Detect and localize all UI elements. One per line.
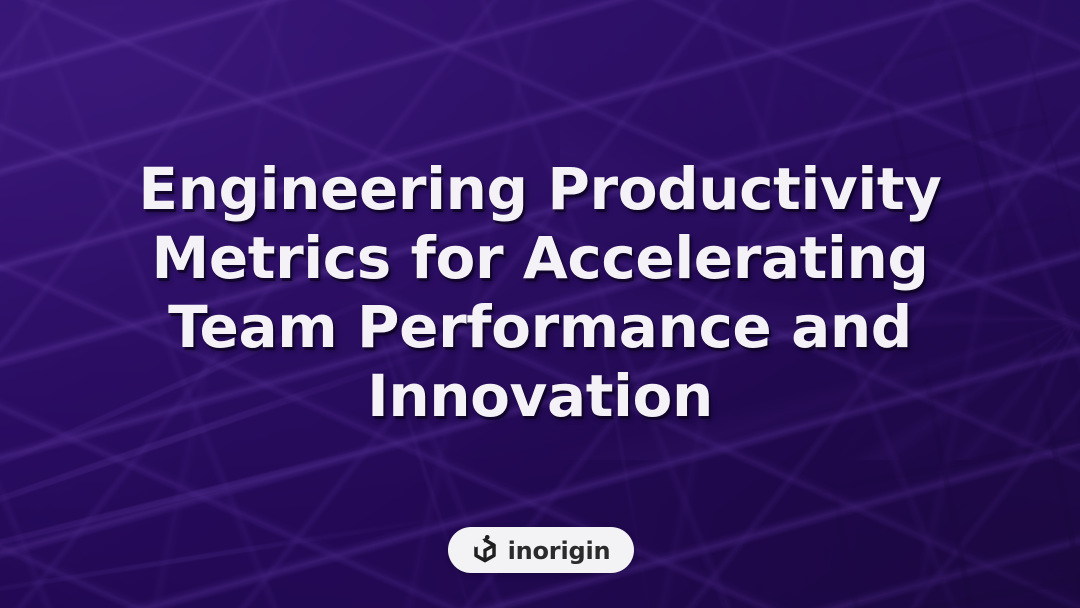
brand-wordmark: inorigin	[508, 539, 611, 563]
cover-canvas: Engineering Productivity Metrics for Acc…	[0, 0, 1080, 608]
inorigin-cube-icon	[472, 535, 499, 565]
headline-block: Engineering Productivity Metrics for Acc…	[0, 155, 1080, 431]
cover-headline: Engineering Productivity Metrics for Acc…	[75, 155, 1005, 431]
brand-logo-pill[interactable]: inorigin	[448, 527, 634, 573]
